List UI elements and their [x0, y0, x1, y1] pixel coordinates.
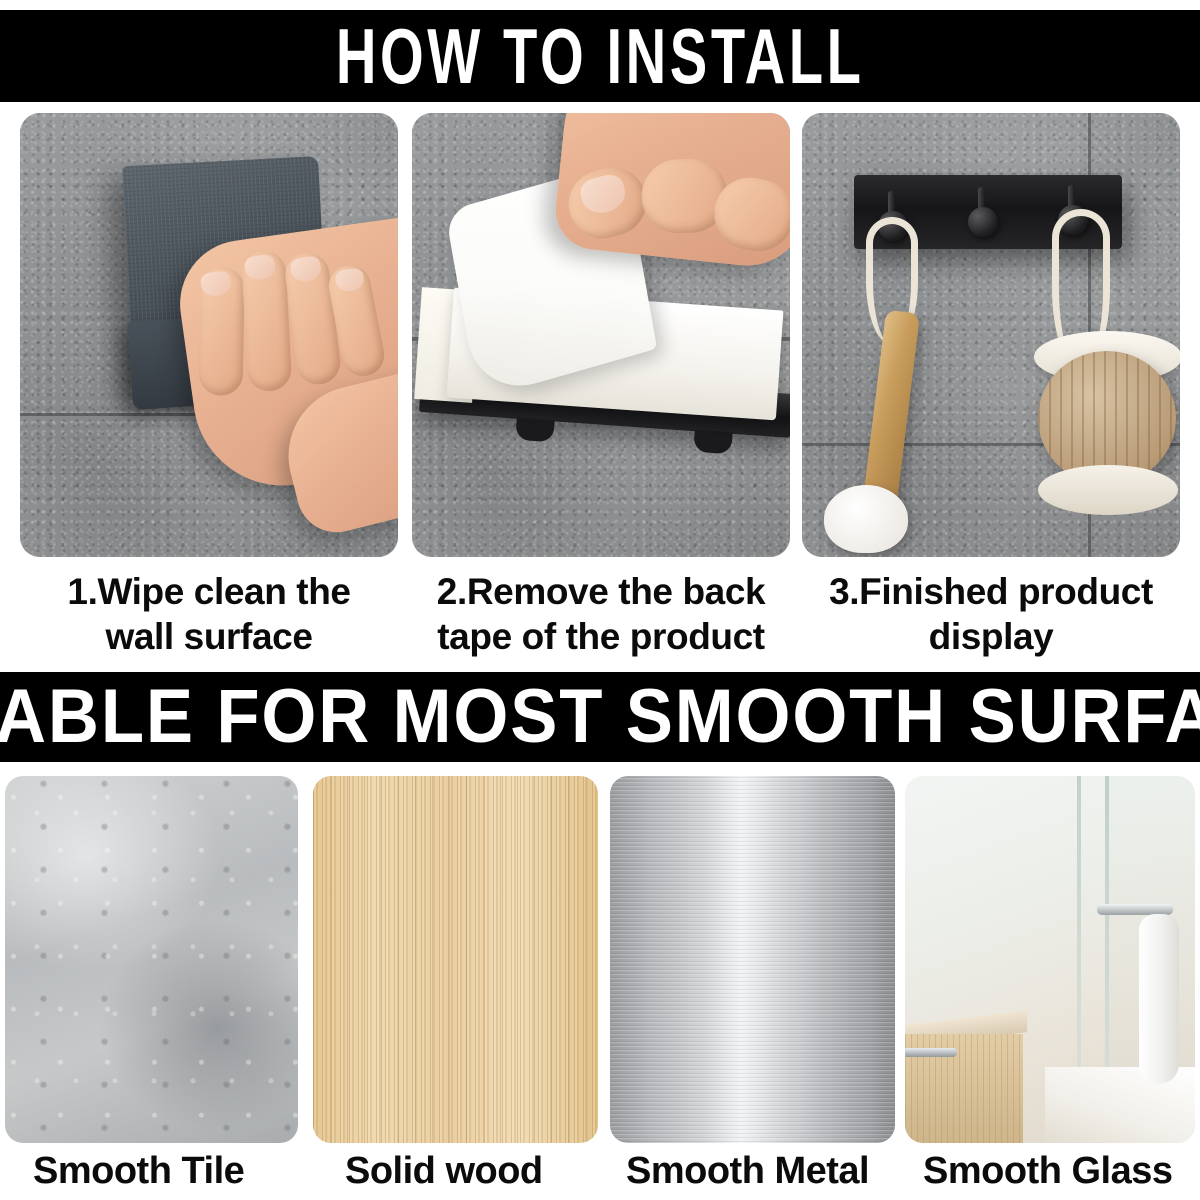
- step-1-caption-line1: 1.Wipe clean the: [20, 569, 398, 614]
- banner-suitable-surfaces-text: SUITABLE FOR MOST SMOOTH SURFACES: [0, 679, 1200, 755]
- surfaces-row: Smooth Tile Solid wood Smooth Metal: [0, 776, 1200, 1200]
- step-3-caption: 3.Finished product display: [802, 569, 1180, 659]
- faucet: [905, 1048, 957, 1057]
- banner-suitable-surfaces: SUITABLE FOR MOST SMOOTH SURFACES: [0, 672, 1200, 762]
- metal-texture: [610, 776, 895, 1143]
- surface-smooth-glass: Smooth Glass: [905, 776, 1195, 1143]
- surface-smooth-metal: Smooth Metal: [610, 776, 895, 1143]
- install-steps-row: 1.Wipe clean the wall surface: [0, 113, 1200, 658]
- step-2-caption-line1: 2.Remove the back: [412, 569, 790, 614]
- install-step-1: 1.Wipe clean the wall surface: [20, 113, 398, 557]
- step-2-photo: [412, 113, 790, 557]
- surface-solid-wood: Solid wood: [313, 776, 598, 1143]
- step-3-caption-line1: 3.Finished product: [802, 569, 1180, 614]
- wood-texture: [313, 776, 598, 1143]
- banner-how-to-install-text: HOW TO INSTALL: [336, 17, 865, 95]
- white-towel: [1139, 914, 1179, 1084]
- infographic-page: HOW TO INSTALL: [0, 0, 1200, 1200]
- bath-brush-head: [824, 485, 908, 553]
- tile-texture: [5, 776, 298, 1143]
- step-2-caption-line2: tape of the product: [412, 614, 790, 659]
- surface-label-solid-wood: Solid wood: [345, 1150, 543, 1193]
- step-3-caption-line2: display: [802, 614, 1180, 659]
- swatch-smooth-metal: [610, 776, 895, 1143]
- step-1-photo: [20, 113, 398, 557]
- surface-label-smooth-metal: Smooth Metal: [626, 1150, 869, 1193]
- swatch-solid-wood: [313, 776, 598, 1143]
- hook-middle-base: [968, 207, 998, 237]
- step-2-caption: 2.Remove the back tape of the product: [412, 569, 790, 659]
- install-step-2: 2.Remove the back tape of the product: [412, 113, 790, 557]
- install-step-3: 3.Finished product display: [802, 113, 1180, 557]
- surface-label-smooth-tile: Smooth Tile: [33, 1150, 244, 1193]
- surface-smooth-tile: Smooth Tile: [5, 776, 298, 1143]
- hand-peeling: [552, 113, 790, 271]
- swatch-smooth-glass: [905, 776, 1195, 1143]
- step-1-caption-line2: wall surface: [20, 614, 398, 659]
- step-3-photo: [802, 113, 1180, 557]
- loofah-bottom-ruffle: [1038, 465, 1178, 515]
- swatch-smooth-tile: [5, 776, 298, 1143]
- step-1-caption: 1.Wipe clean the wall surface: [20, 569, 398, 659]
- surface-label-smooth-glass: Smooth Glass: [923, 1150, 1173, 1193]
- banner-how-to-install: HOW TO INSTALL: [0, 10, 1200, 102]
